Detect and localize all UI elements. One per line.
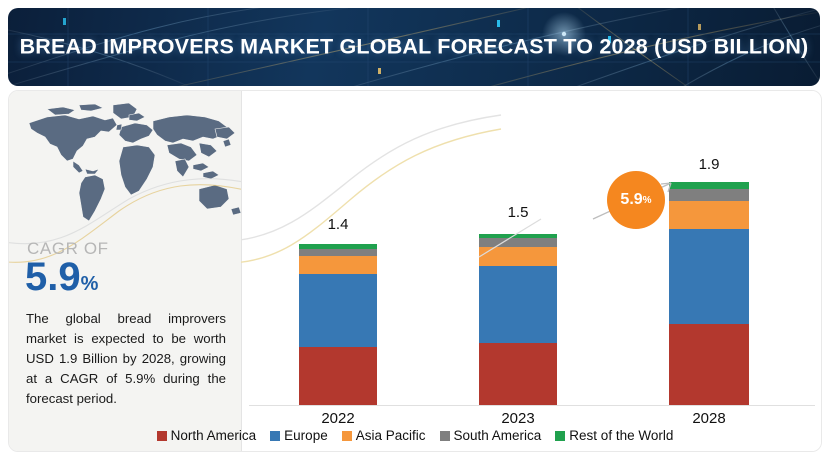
header-banner: BREAD IMPROVERS MARKET GLOBAL FORECAST T… (8, 8, 820, 86)
sidebar-panel: CAGR OF 5.9% The global bread improvers … (9, 91, 241, 451)
segment-europe (669, 229, 749, 324)
cagr-value: 5.9% (25, 255, 98, 306)
legend-swatch-rest-of-the-world (555, 431, 565, 441)
bar-group-2022: 1.4 2022 (299, 137, 377, 405)
bar-total-2022: 1.4 (328, 216, 349, 233)
bar-total-2028: 1.9 (699, 156, 720, 173)
bar-total-2023: 1.5 (508, 204, 529, 221)
cagr-description: The global bread improvers market is exp… (26, 309, 226, 409)
segment-europe (479, 266, 557, 343)
legend-label-rest-of-the-world: Rest of the World (569, 428, 673, 443)
page-title: BREAD IMPROVERS MARKET GLOBAL FORECAST T… (8, 35, 820, 60)
legend-item-north-america[interactable]: North America (157, 428, 257, 443)
segment-south-america (479, 238, 557, 246)
cagr-bubble-percent-symbol: % (643, 195, 652, 206)
bar-group-2028: 1.9 2028 (669, 137, 749, 405)
body-card: CAGR OF 5.9% The global bread improvers … (8, 90, 822, 452)
legend-item-europe[interactable]: Europe (270, 428, 328, 443)
cagr-number: 5.9 (25, 255, 81, 299)
cagr-callout-bubble: 5.9% (607, 171, 665, 229)
segment-asia-pacific (669, 201, 749, 230)
legend-item-south-america[interactable]: South America (440, 428, 542, 443)
stacked-bar-2028 (669, 179, 749, 405)
segment-north-america (299, 347, 377, 405)
infographic-root: BREAD IMPROVERS MARKET GLOBAL FORECAST T… (0, 0, 828, 458)
segment-asia-pacific (299, 256, 377, 274)
segment-north-america (479, 343, 557, 405)
stacked-bar-2023 (479, 227, 557, 405)
x-axis-line (249, 405, 815, 406)
category-label-2022: 2022 (321, 410, 354, 427)
category-label-2023: 2023 (501, 410, 534, 427)
chart-legend: North America Europe Asia Pacific South … (9, 428, 821, 443)
segment-south-america (299, 249, 377, 256)
cagr-bubble-number: 5.9 (620, 191, 642, 209)
legend-label-north-america: North America (171, 428, 257, 443)
legend-label-asia-pacific: Asia Pacific (356, 428, 426, 443)
segment-asia-pacific (479, 247, 557, 266)
legend-label-south-america: South America (454, 428, 542, 443)
segment-north-america (669, 324, 749, 405)
bar-group-2023: 1.5 2023 (479, 137, 557, 405)
cagr-percent-symbol: % (81, 273, 99, 295)
legend-label-europe: Europe (284, 428, 328, 443)
legend-item-rest-of-the-world[interactable]: Rest of the World (555, 428, 673, 443)
chart-panel: 1.4 2022 1.5 (241, 91, 821, 451)
plot-area: 1.4 2022 1.5 (241, 91, 821, 451)
segment-europe (299, 274, 377, 348)
legend-swatch-south-america (440, 431, 450, 441)
segment-rest-of-the-world (669, 182, 749, 189)
legend-swatch-asia-pacific (342, 431, 352, 441)
segment-south-america (669, 189, 749, 201)
legend-swatch-north-america (157, 431, 167, 441)
category-label-2028: 2028 (692, 410, 725, 427)
legend-swatch-europe (270, 431, 280, 441)
stacked-bar-2022 (299, 239, 377, 405)
legend-item-asia-pacific[interactable]: Asia Pacific (342, 428, 426, 443)
